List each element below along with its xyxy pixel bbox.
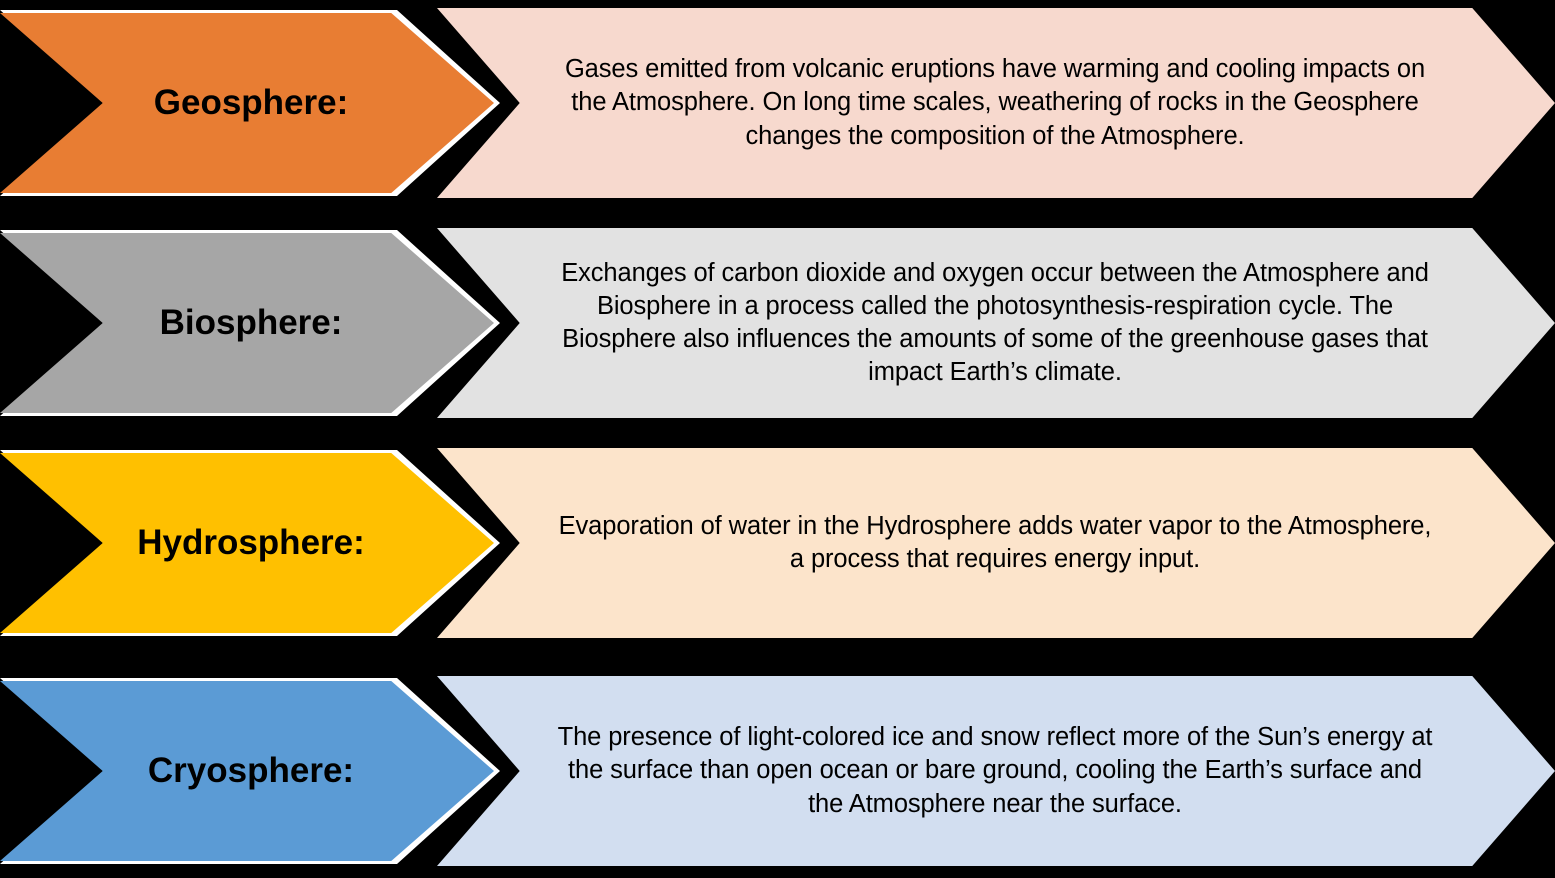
description-chevron-geosphere: Gases emitted from volcanic eruptions ha… — [437, 8, 1555, 198]
description-chevron-hydrosphere: Evaporation of water in the Hydrosphere … — [437, 448, 1555, 638]
description-text-geosphere: Gases emitted from volcanic eruptions ha… — [555, 53, 1435, 152]
label-text-cryosphere: Cryosphere: — [148, 751, 354, 791]
sphere-row-hydrosphere: Evaporation of water in the Hydrosphere … — [0, 448, 1555, 638]
label-chevron-geosphere[interactable]: Geosphere: — [0, 13, 494, 193]
label-chevron-biosphere[interactable]: Biosphere: — [0, 233, 494, 413]
description-text-cryosphere: The presence of light-colored ice and sn… — [555, 721, 1435, 820]
description-chevron-cryosphere: The presence of light-colored ice and sn… — [437, 676, 1555, 866]
sphere-row-biosphere: Exchanges of carbon dioxide and oxygen o… — [0, 228, 1555, 418]
description-text-biosphere: Exchanges of carbon dioxide and oxygen o… — [555, 257, 1435, 390]
label-chevron-cryosphere[interactable]: Cryosphere: — [0, 681, 494, 861]
label-chevron-hydrosphere[interactable]: Hydrosphere: — [0, 453, 494, 633]
sphere-row-cryosphere: The presence of light-colored ice and sn… — [0, 676, 1555, 866]
label-text-geosphere: Geosphere: — [154, 83, 349, 123]
description-chevron-biosphere: Exchanges of carbon dioxide and oxygen o… — [437, 228, 1555, 418]
label-text-hydrosphere: Hydrosphere: — [137, 523, 365, 563]
description-text-hydrosphere: Evaporation of water in the Hydrosphere … — [555, 510, 1435, 576]
label-text-biosphere: Biosphere: — [160, 303, 343, 343]
sphere-row-geosphere: Gases emitted from volcanic eruptions ha… — [0, 8, 1555, 198]
spheres-interaction-diagram: Gases emitted from volcanic eruptions ha… — [0, 0, 1555, 878]
